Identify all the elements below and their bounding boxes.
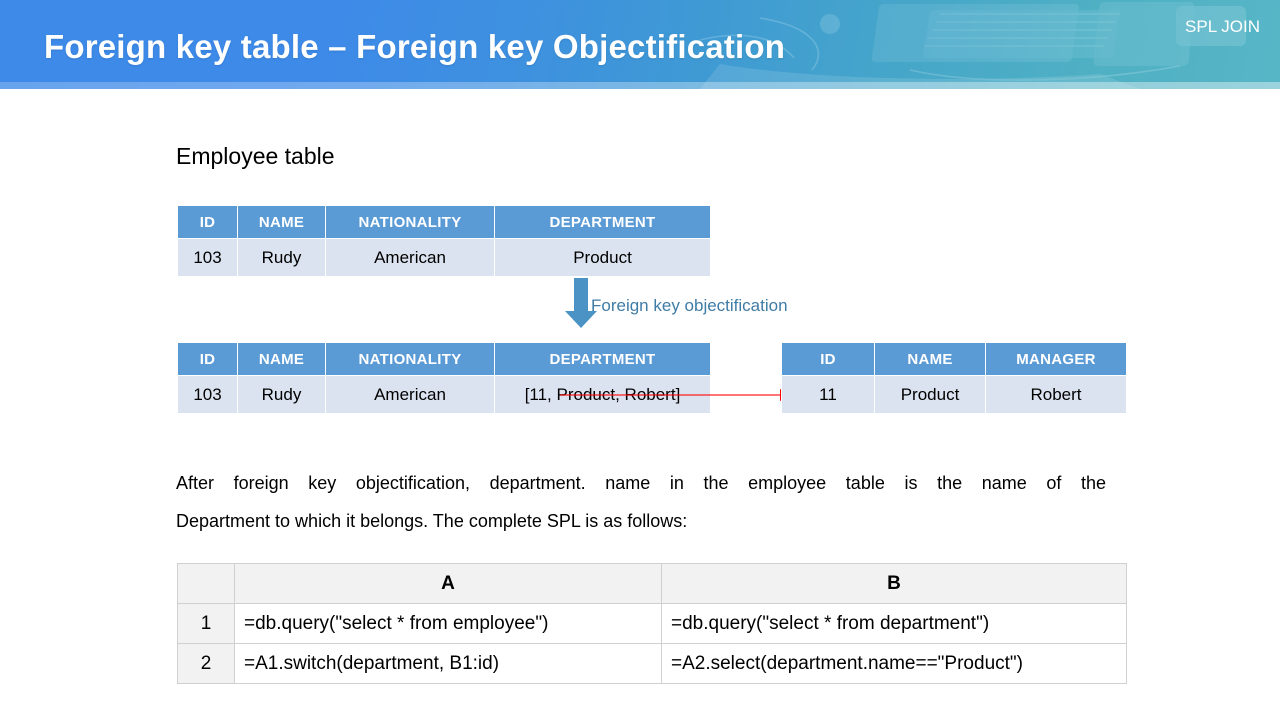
cell-name: Product	[875, 376, 986, 414]
cell-name: Rudy	[238, 239, 326, 277]
spl-cell-a2[interactable]: =A1.switch(department, B1:id)	[235, 644, 662, 684]
spl-column-header-a: A	[235, 564, 662, 604]
table-header-row: ID NAME NATIONALITY DEPARTMENT	[178, 343, 711, 376]
spl-cell-b1[interactable]: =db.query("select * from department")	[662, 604, 1127, 644]
cell-department: Product	[495, 239, 711, 277]
department-table: ID NAME MANAGER 11 Product Robert	[781, 342, 1127, 414]
cell-id: 11	[782, 376, 875, 414]
paragraph-line-1: After foreign key objectification, depar…	[176, 464, 1106, 502]
employee-table: ID NAME NATIONALITY DEPARTMENT 103 Rudy …	[177, 205, 711, 277]
spl-corner-cell	[178, 564, 235, 604]
spl-row: 2 =A1.switch(department, B1:id) =A2.sele…	[178, 644, 1127, 684]
spl-row-index-1: 1	[178, 604, 235, 644]
foreign-key-link-arrow-icon	[560, 382, 800, 408]
spl-row: 1 =db.query("select * from employee") =d…	[178, 604, 1127, 644]
page-title: Foreign key table – Foreign key Objectif…	[44, 28, 785, 66]
cell-id: 103	[178, 239, 238, 277]
column-header-department: DEPARTMENT	[495, 206, 711, 239]
spl-cell-a1[interactable]: =db.query("select * from employee")	[235, 604, 662, 644]
column-header-department: DEPARTMENT	[495, 343, 711, 376]
table-header-row: ID NAME MANAGER	[782, 343, 1127, 376]
cell-manager: Robert	[986, 376, 1127, 414]
column-header-id: ID	[178, 206, 238, 239]
table-row: 103 Rudy American Product	[178, 239, 711, 277]
spl-cell-b2[interactable]: =A2.select(department.name=="Product")	[662, 644, 1127, 684]
cell-nationality: American	[326, 239, 495, 277]
cell-id: 103	[178, 376, 238, 414]
slide-header-banner: Foreign key table – Foreign key Objectif…	[0, 0, 1280, 89]
cell-nationality: American	[326, 376, 495, 414]
transform-arrow-label: Foreign key objectification	[591, 296, 788, 316]
banner-brand-tag: SPL JOIN	[1185, 17, 1260, 37]
slide: Foreign key table – Foreign key Objectif…	[0, 0, 1280, 720]
paragraph-line-2: Department to which it belongs. The comp…	[176, 502, 1106, 540]
column-header-manager: MANAGER	[986, 343, 1127, 376]
column-header-nationality: NATIONALITY	[326, 206, 495, 239]
spl-code-table: A B 1 =db.query("select * from employee"…	[177, 563, 1127, 684]
table-row: 11 Product Robert	[782, 376, 1127, 414]
table-header-row: ID NAME NATIONALITY DEPARTMENT	[178, 206, 711, 239]
column-header-name: NAME	[238, 343, 326, 376]
spl-header-row: A B	[178, 564, 1127, 604]
column-header-nationality: NATIONALITY	[326, 343, 495, 376]
spl-column-header-b: B	[662, 564, 1127, 604]
spl-row-index-2: 2	[178, 644, 235, 684]
column-header-id: ID	[782, 343, 875, 376]
employee-table-label: Employee table	[176, 143, 335, 170]
column-header-name: NAME	[875, 343, 986, 376]
column-header-name: NAME	[238, 206, 326, 239]
column-header-id: ID	[178, 343, 238, 376]
explanation-paragraph: After foreign key objectification, depar…	[176, 464, 1106, 540]
banner-bottom-strip	[0, 82, 1280, 89]
cell-name: Rudy	[238, 376, 326, 414]
